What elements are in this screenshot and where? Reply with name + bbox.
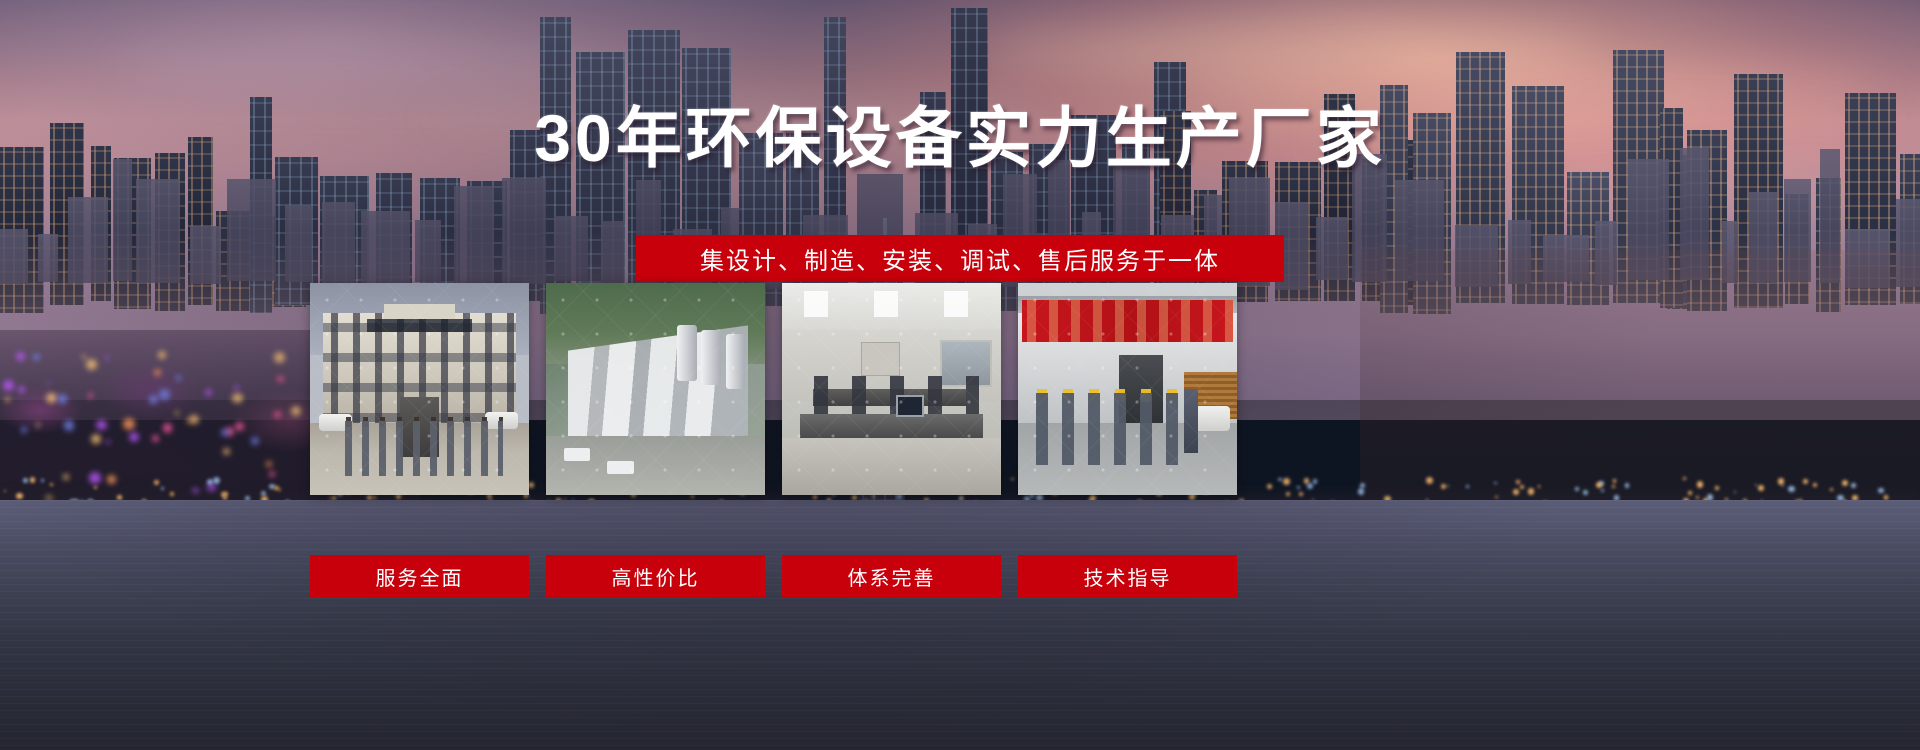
feature-caption-1[interactable]: 服务全面 (310, 555, 529, 597)
feature-card-photo-2[interactable] (546, 283, 765, 495)
feature-caption-3[interactable]: 体系完善 (782, 555, 1001, 597)
banner-headline: 30年环保设备实力生产厂家 (0, 105, 1920, 171)
photo-watermark (546, 283, 765, 495)
banner-subtitle-bar: 集设计、制造、安装、调试、售后服务于一体 (636, 235, 1284, 282)
feature-card-photo-4[interactable] (1018, 283, 1237, 495)
hero-banner: 30年环保设备实力生产厂家 集设计、制造、安装、调试、售后服务于一体 (0, 0, 1920, 750)
banner-subtitle-text: 集设计、制造、安装、调试、售后服务于一体 (700, 241, 1220, 276)
feature-card-photo-3[interactable] (782, 283, 1001, 495)
photo-watermark (310, 283, 529, 495)
feature-card-photo-1[interactable] (310, 283, 529, 495)
feature-caption-row: 服务全面 高性价比 体系完善 技术指导 (310, 555, 1558, 597)
feature-card-row (310, 283, 1558, 495)
feature-caption-2[interactable]: 高性价比 (546, 555, 765, 597)
photo-watermark (782, 283, 1001, 495)
photo-watermark (1018, 283, 1237, 495)
banner-content: 30年环保设备实力生产厂家 集设计、制造、安装、调试、售后服务于一体 (0, 0, 1920, 750)
feature-caption-4[interactable]: 技术指导 (1018, 555, 1237, 597)
